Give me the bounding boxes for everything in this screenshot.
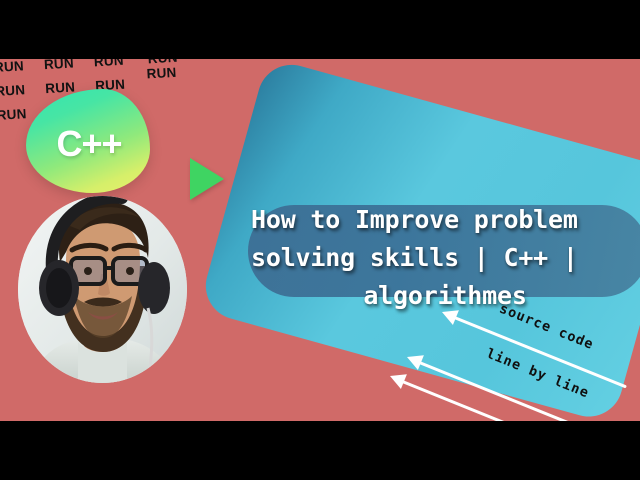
avatar-portrait-icon [18,196,187,383]
thumbnail-canvas: RUN RUN RUN RUN RUN RUN RUN RUN RUN RUN … [0,59,640,421]
run-cell: RUN [93,59,144,69]
run-cell: RUN [146,63,197,81]
cpp-logo-badge: C++ [26,89,150,193]
avatar [18,196,187,383]
play-triangle-icon[interactable] [190,158,224,200]
page-title: How to Improve problem solving skills | … [245,201,640,315]
title-line-2: solving skills | C++ | [245,239,640,277]
title-line-1: How to Improve problem [245,201,640,239]
letterbox-bar-top [0,0,640,59]
letterbox-bar-bottom [0,421,640,480]
arrow-head-icon [387,369,407,389]
run-cell: RUN [0,59,44,74]
run-cell: RUN [44,59,95,72]
cpp-label: C++ [26,89,150,193]
thumbnail-stage: RUN RUN RUN RUN RUN RUN RUN RUN RUN RUN … [0,0,640,480]
